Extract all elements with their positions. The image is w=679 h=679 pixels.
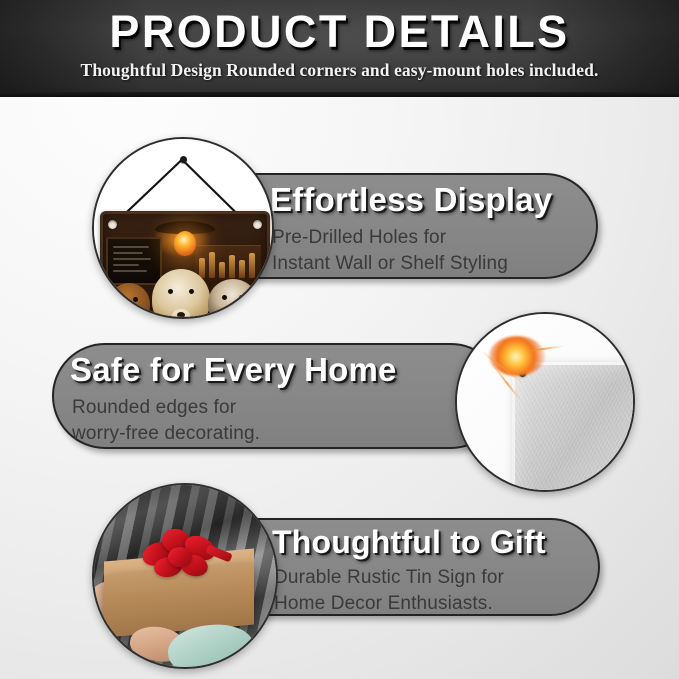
feature-heading-thoughtful-to-gift: Thoughtful to Gift	[272, 524, 546, 561]
feature-subtext-line2: Home Decor Enthusiasts.	[274, 591, 504, 617]
feature-subtext-line2: worry-free decorating.	[72, 421, 260, 447]
feature-heading-safe-for-every-home: Safe for Every Home	[70, 351, 397, 389]
feature-subtext-line1: Pre-Drilled Holes for	[272, 225, 508, 251]
product-details-infographic: PRODUCT DETAILS Thoughtful Design Rounde…	[0, 0, 679, 679]
tin-sign-border	[100, 211, 270, 319]
header-banner: PRODUCT DETAILS Thoughtful Design Rounde…	[0, 0, 679, 97]
feature-subtext-line2: Instant Wall or Shelf Styling	[272, 251, 508, 277]
tin-sign-artwork	[100, 211, 270, 319]
feature-heading-effortless-display: Effortless Display	[270, 181, 552, 219]
gift-bow	[140, 523, 226, 581]
feature-image-rounded-corner	[455, 312, 635, 492]
feature-image-gift-box	[92, 483, 278, 669]
feature-subtext-effortless-display: Pre-Drilled Holes for Instant Wall or Sh…	[272, 225, 508, 277]
metal-bevel-highlight	[512, 362, 635, 492]
wall-nail-icon	[180, 156, 187, 163]
header-divider	[0, 92, 679, 97]
feature-subtext-line1: Rounded edges for	[72, 395, 260, 421]
feature-subtext-line1: Durable Rustic Tin Sign for	[274, 565, 504, 591]
page-title: PRODUCT DETAILS	[0, 6, 679, 58]
feature-subtext-safe-for-every-home: Rounded edges for worry-free decorating.	[72, 395, 260, 447]
metal-sign-plate	[512, 362, 635, 492]
feature-image-tin-sign	[92, 137, 274, 319]
feature-subtext-thoughtful-to-gift: Durable Rustic Tin Sign for Home Decor E…	[274, 565, 504, 617]
page-subtitle: Thoughtful Design Rounded corners and ea…	[0, 60, 679, 81]
